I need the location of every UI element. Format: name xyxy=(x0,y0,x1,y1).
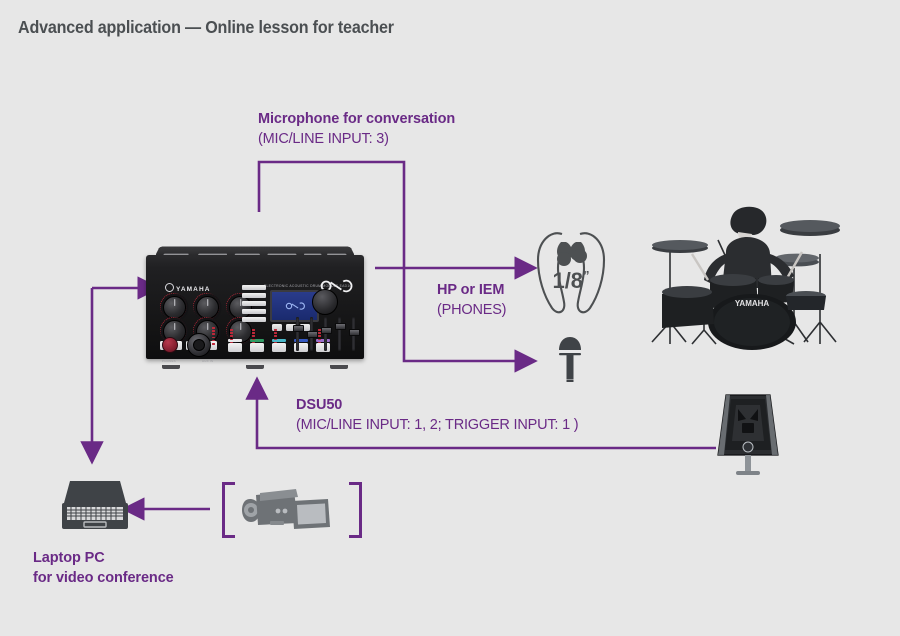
camcorder-optional xyxy=(222,482,362,538)
fader-2[interactable] xyxy=(307,331,318,338)
menu-button-5[interactable] xyxy=(242,317,266,322)
iem-connector-size: 1/8” xyxy=(552,268,589,294)
lcd-ead-logo xyxy=(284,302,306,311)
svg-text:YAMAHA: YAMAHA xyxy=(735,299,770,308)
callout-laptop-detail: for video conference xyxy=(33,568,174,588)
menu-button-4[interactable] xyxy=(242,309,266,314)
drum-kit-illustration: YAMAHA xyxy=(634,196,856,352)
callout-headphones: HP or IEM (PHONES) xyxy=(437,281,506,320)
callout-laptop-title: Laptop PC xyxy=(33,548,174,568)
callout-dsu50-detail: (MIC/LINE INPUT: 1, 2; TRIGGER INPUT: 1 … xyxy=(296,415,578,435)
tuning-fork-icon xyxy=(165,283,174,292)
data-dial[interactable] xyxy=(312,289,338,315)
callout-microphone-title: Microphone for conversation xyxy=(258,110,455,129)
ead-drum-module: YAMAHA ELECTRONIC ACOUSTIC DRUM MODULE E… xyxy=(146,243,364,365)
bracket-left-icon xyxy=(222,482,235,538)
diagram-canvas: Advanced application — Online lesson for… xyxy=(0,0,900,636)
knob-1[interactable] xyxy=(163,296,186,319)
in-ear-monitors: 1/8” xyxy=(528,216,614,320)
menu-button-3[interactable] xyxy=(242,301,266,306)
callout-dsu50: DSU50 (MIC/LINE INPUT: 1, 2; TRIGGER INP… xyxy=(296,396,578,435)
callout-laptop: Laptop PC for video conference xyxy=(33,548,174,588)
callout-dsu50-title: DSU50 xyxy=(296,396,578,415)
yamaha-logo: YAMAHA xyxy=(165,283,211,293)
menu-button-2[interactable] xyxy=(242,293,266,298)
ead-front-panel: YAMAHA ELECTRONIC ACOUSTIC DRUM MODULE E… xyxy=(146,255,364,359)
fader-3[interactable] xyxy=(321,327,332,334)
callout-headphones-detail: (PHONES) xyxy=(437,300,506,320)
fader-5[interactable] xyxy=(349,329,360,336)
fader-4[interactable] xyxy=(335,323,346,330)
handheld-microphone xyxy=(552,334,588,384)
menu-button-1[interactable] xyxy=(242,285,266,290)
dsu50-icon xyxy=(712,389,784,479)
jog-wheel[interactable] xyxy=(187,333,211,357)
camcorder-icon xyxy=(242,485,342,535)
drummer-photo: YAMAHA xyxy=(634,196,856,352)
knob-2[interactable] xyxy=(196,296,219,319)
knob-3[interactable] xyxy=(229,296,252,319)
bracket-right-icon xyxy=(349,482,362,538)
dsu50-sensor-unit xyxy=(712,389,784,479)
fader-1[interactable] xyxy=(293,325,304,332)
microphone-icon xyxy=(552,334,588,384)
callout-microphone-detail: (MIC/LINE INPUT: 3) xyxy=(258,129,455,149)
laptop-icon xyxy=(52,479,138,537)
record-button[interactable] xyxy=(162,337,178,353)
laptop-pc xyxy=(52,479,138,537)
callout-headphones-title: HP or IEM xyxy=(437,281,506,300)
callout-microphone: Microphone for conversation (MIC/LINE IN… xyxy=(258,110,455,149)
wire-ead-to-laptop xyxy=(92,288,140,462)
